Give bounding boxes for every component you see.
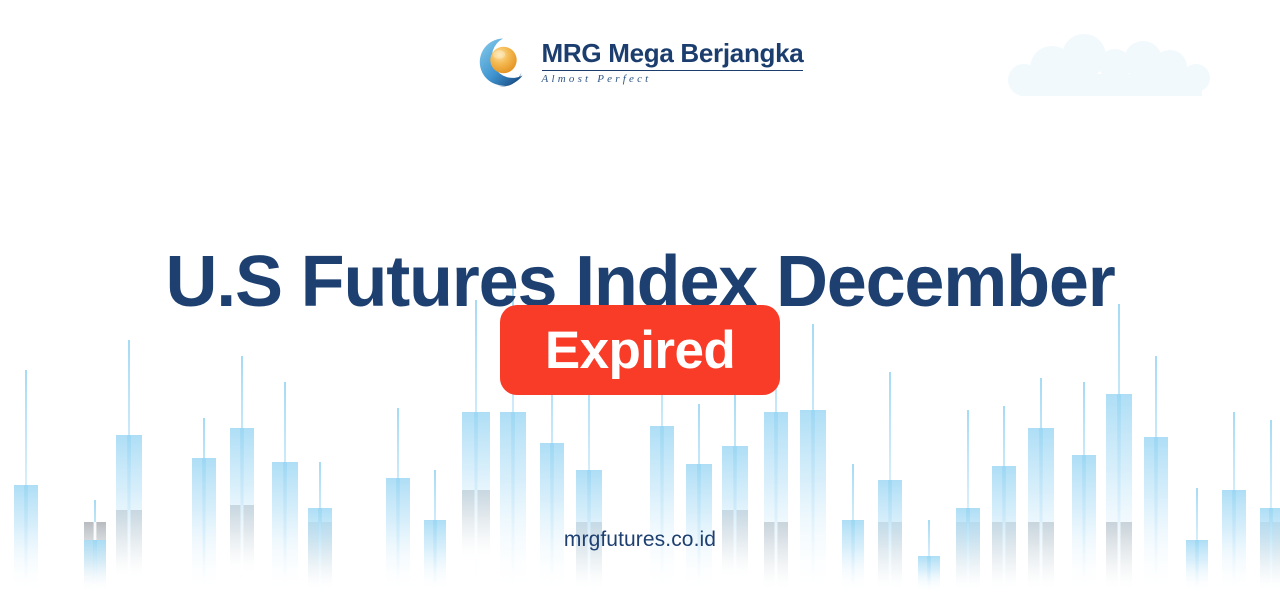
mrg-logo-icon	[477, 36, 529, 88]
poster-canvas: MRG Mega Berjangka Almost Perfect U.S Fu…	[0, 0, 1280, 592]
brand-name: MRG Mega Berjangka	[542, 40, 804, 67]
brand-text: MRG Mega Berjangka Almost Perfect	[542, 40, 804, 85]
status-badge: Expired	[500, 305, 780, 395]
brand-tagline: Almost Perfect	[542, 74, 652, 85]
brand-underline	[542, 70, 804, 72]
website-url: mrgfutures.co.id	[0, 529, 1280, 550]
brand-logo: MRG Mega Berjangka Almost Perfect	[0, 36, 1280, 88]
status-badge-container: Expired	[0, 305, 1280, 395]
